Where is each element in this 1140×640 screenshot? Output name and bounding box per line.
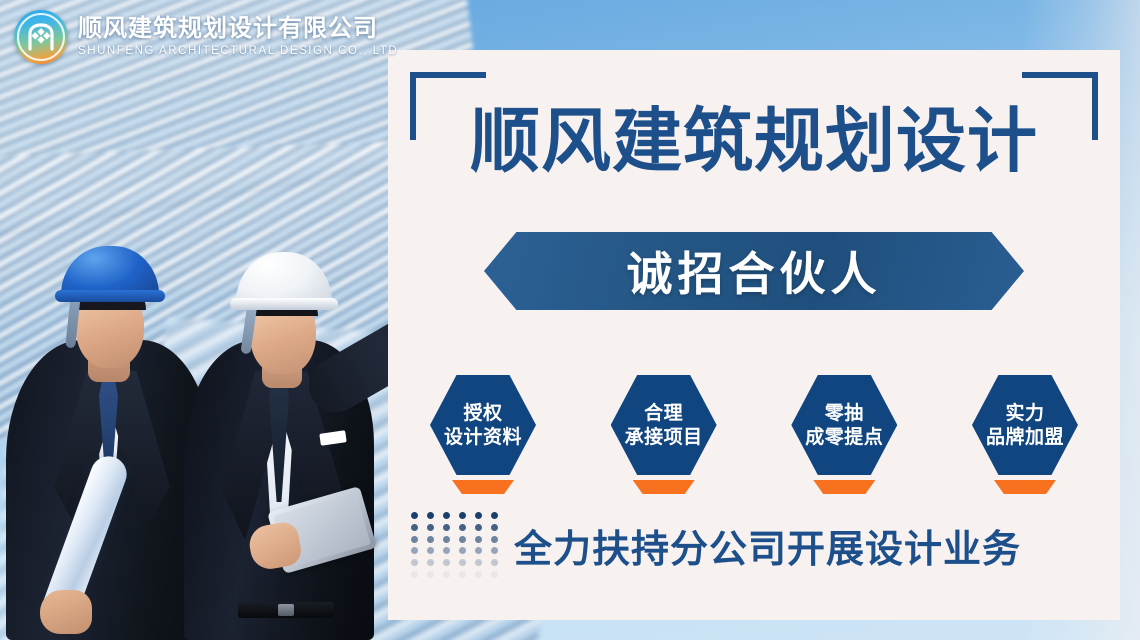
dot [443, 524, 450, 531]
banner-label: 诚招合伙人 [627, 238, 882, 304]
promo-card: 顺风建筑规划设计 诚招合伙人 授权 设计资料 合理 承接项目 零抽 成零提点 [388, 50, 1120, 620]
dot [427, 559, 434, 566]
badge-line-1: 实力 [1005, 402, 1044, 424]
hexagon-shape: 授权 设计资料 [430, 375, 536, 475]
dot [491, 524, 498, 531]
brand-logo-bar: 顺风建筑规划设计有限公司 SHUNFENG ARCHITECTURAL DESI… [14, 10, 398, 64]
badge-line-1: 零抽 [825, 402, 864, 424]
blue-hardhat-icon [61, 246, 159, 302]
badge-line-2: 成零提点 [805, 426, 883, 448]
hexagon-shape: 合理 承接项目 [611, 375, 717, 475]
dot [443, 547, 450, 554]
badge-line-1: 授权 [463, 402, 502, 424]
badge-orange-foot [994, 480, 1056, 494]
banner-arrow-shape: 诚招合伙人 [484, 232, 1024, 310]
dot [459, 559, 466, 566]
brand-name-en: SHUNFENG ARCHITECTURAL DESIGN CO., LTD [78, 46, 398, 58]
dot [459, 547, 466, 554]
dot [459, 571, 466, 578]
brand-name-cn: 顺风建筑规划设计有限公司 [78, 17, 398, 41]
hexagon-shape: 实力 品牌加盟 [972, 375, 1078, 475]
badge-line-2: 承接项目 [625, 426, 703, 448]
dot [475, 547, 482, 554]
dot [459, 536, 466, 543]
dot [443, 536, 450, 543]
badge-line-1: 合理 [644, 402, 683, 424]
tagline-row: 全力扶持分公司开展设计业务 [402, 508, 1108, 582]
badge-orange-foot [813, 480, 875, 494]
feature-badge[interactable]: 授权 设计资料 [424, 375, 542, 485]
dot [475, 512, 482, 519]
page-title: 顺风建筑规划设计 [388, 106, 1120, 176]
badge-orange-foot [452, 480, 514, 494]
gate-diamond-glyph [14, 10, 68, 64]
dot [411, 547, 418, 554]
recruit-banner: 诚招合伙人 [484, 232, 1024, 310]
badge-line-2: 品牌加盟 [986, 426, 1064, 448]
dot [491, 536, 498, 543]
feature-badge[interactable]: 实力 品牌加盟 [966, 375, 1084, 485]
dot [475, 524, 482, 531]
dot [475, 559, 482, 566]
dot [459, 512, 466, 519]
company-logo-icon [14, 10, 68, 64]
dot [443, 559, 450, 566]
dot [491, 571, 498, 578]
feature-badge[interactable]: 零抽 成零提点 [785, 375, 903, 485]
dot [411, 559, 418, 566]
belt [238, 602, 334, 618]
dot [491, 559, 498, 566]
hand [40, 590, 92, 634]
dot [427, 536, 434, 543]
dot [459, 524, 466, 531]
dot-grid-decoration [406, 510, 502, 580]
dot [443, 571, 450, 578]
dot [427, 547, 434, 554]
feature-badge-list: 授权 设计资料 合理 承接项目 零抽 成零提点 实力 品牌加盟 [424, 375, 1084, 485]
dot [411, 524, 418, 531]
badge-orange-foot [633, 480, 695, 494]
dot [475, 536, 482, 543]
dot [411, 571, 418, 578]
tagline-text: 全力扶持分公司开展设计业务 [514, 518, 1021, 573]
dot [427, 571, 434, 578]
dot [411, 536, 418, 543]
white-hardhat-icon [236, 252, 332, 310]
badge-line-2: 设计资料 [444, 426, 522, 448]
dot [491, 547, 498, 554]
dot [411, 512, 418, 519]
people-group [0, 220, 400, 640]
hexagon-shape: 零抽 成零提点 [791, 375, 897, 475]
dot [475, 571, 482, 578]
engineer-white-helmet [178, 220, 408, 640]
dot [443, 512, 450, 519]
dot [427, 512, 434, 519]
feature-badge[interactable]: 合理 承接项目 [605, 375, 723, 485]
dot [491, 512, 498, 519]
brand-text: 顺风建筑规划设计有限公司 SHUNFENG ARCHITECTURAL DESI… [78, 17, 398, 58]
dot [427, 524, 434, 531]
